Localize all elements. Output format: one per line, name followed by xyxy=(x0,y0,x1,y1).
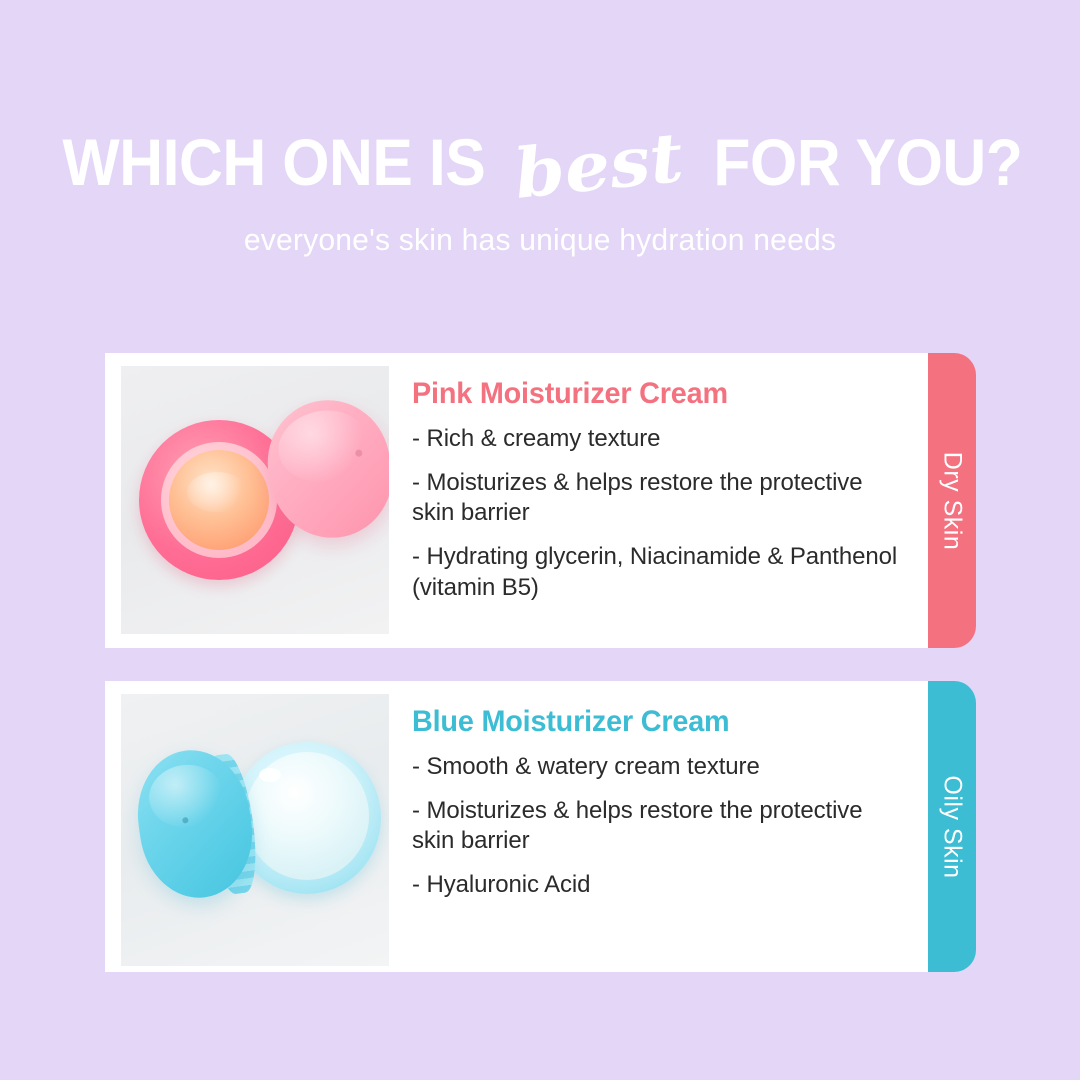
blue-feature-3: - Hyaluronic Acid xyxy=(412,870,899,901)
headline-script-word: best xyxy=(505,123,692,210)
pink-feature-1: - Rich & creamy texture xyxy=(412,424,899,455)
dry-skin-tab-label: Dry Skin xyxy=(938,451,967,549)
pink-feature-3: - Hydrating glycerin, Niacinamide & Pant… xyxy=(412,542,899,603)
pink-moisturizer-jar-photo xyxy=(121,366,389,634)
blue-product-title: Blue Moisturizer Cream xyxy=(412,705,880,738)
headline-part-2: FOR YOU? xyxy=(714,129,1023,195)
oily-skin-tab[interactable]: Oily Skin xyxy=(928,681,976,972)
pink-product-title: Pink Moisturizer Cream xyxy=(412,377,880,410)
headline-part-1: WHICH ONE IS xyxy=(62,129,485,195)
blue-card-content: Blue Moisturizer Cream - Smooth & watery… xyxy=(389,681,933,901)
blue-feature-2: - Moisturizes & helps restore the protec… xyxy=(412,796,899,857)
dry-skin-tab[interactable]: Dry Skin xyxy=(928,353,976,648)
headline: WHICH ONE IS best FOR YOU? xyxy=(0,128,1080,196)
infographic-canvas: WHICH ONE IS best FOR YOU? everyone's sk… xyxy=(0,0,1080,1080)
header-subtitle: everyone's skin has unique hydration nee… xyxy=(16,222,1064,258)
product-card-pink[interactable]: Pink Moisturizer Cream - Rich & creamy t… xyxy=(105,353,933,648)
header-block: WHICH ONE IS best FOR YOU? everyone's sk… xyxy=(0,128,1080,258)
oily-skin-tab-label: Oily Skin xyxy=(938,775,967,878)
pink-feature-2: - Moisturizes & helps restore the protec… xyxy=(412,468,899,529)
pink-cream-surface-icon xyxy=(169,450,269,550)
blue-gel-surface-icon xyxy=(245,752,369,880)
blue-moisturizer-jar-photo xyxy=(121,694,389,966)
pink-card-content: Pink Moisturizer Cream - Rich & creamy t… xyxy=(389,353,933,604)
blue-feature-1: - Smooth & watery cream texture xyxy=(412,752,899,783)
product-card-blue[interactable]: Blue Moisturizer Cream - Smooth & watery… xyxy=(105,681,933,972)
